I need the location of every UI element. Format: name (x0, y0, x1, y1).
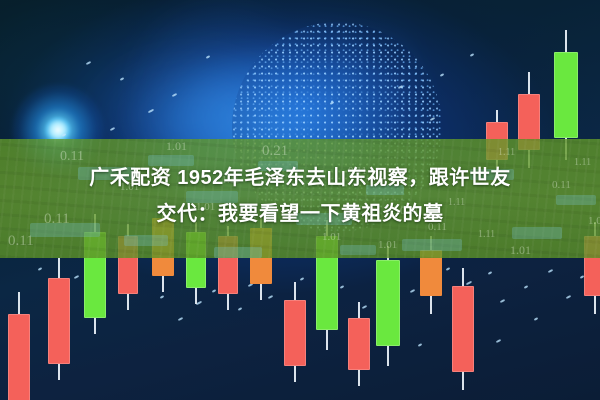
band-blob (340, 245, 376, 255)
ticker-label: 1.11 (498, 147, 515, 158)
band-blob (214, 247, 262, 258)
candlestick (8, 292, 30, 400)
candle-body (554, 52, 578, 138)
candle-body (452, 286, 474, 372)
candlestick (284, 282, 306, 382)
candlestick (452, 268, 474, 390)
page-title: 广禾配资 1952年毛泽东去山东视察，跟许世友 交代：我要看望一下黄祖炎的墓 (0, 160, 600, 232)
headline-line-1: 广禾配资 1952年毛泽东去山东视察，跟许世友 (14, 160, 586, 196)
ticker-label: 1.01 (378, 239, 397, 251)
candle-body (376, 260, 400, 346)
ticker-label: 0.11 (8, 233, 34, 250)
ticker-label: 0.21 (262, 143, 288, 160)
band-blob (402, 239, 462, 251)
headline-line-2: 交代：我要看望一下黄祖炎的墓 (14, 196, 586, 232)
candle-body (284, 300, 306, 366)
candle-body (348, 318, 370, 370)
candlestick (376, 246, 400, 366)
ticker-label: 1.01 (510, 243, 531, 258)
candlestick (48, 258, 70, 380)
candle-body (8, 314, 30, 400)
band-blob (124, 235, 168, 246)
ticker-label: 1.01 (322, 231, 341, 243)
candlestick (348, 302, 370, 386)
ticker-label: 1.01 (166, 139, 187, 154)
candle-body (48, 278, 70, 364)
thumbnail-image: 0.111.010.110.111.011.111.011.010.211.01… (0, 0, 600, 400)
